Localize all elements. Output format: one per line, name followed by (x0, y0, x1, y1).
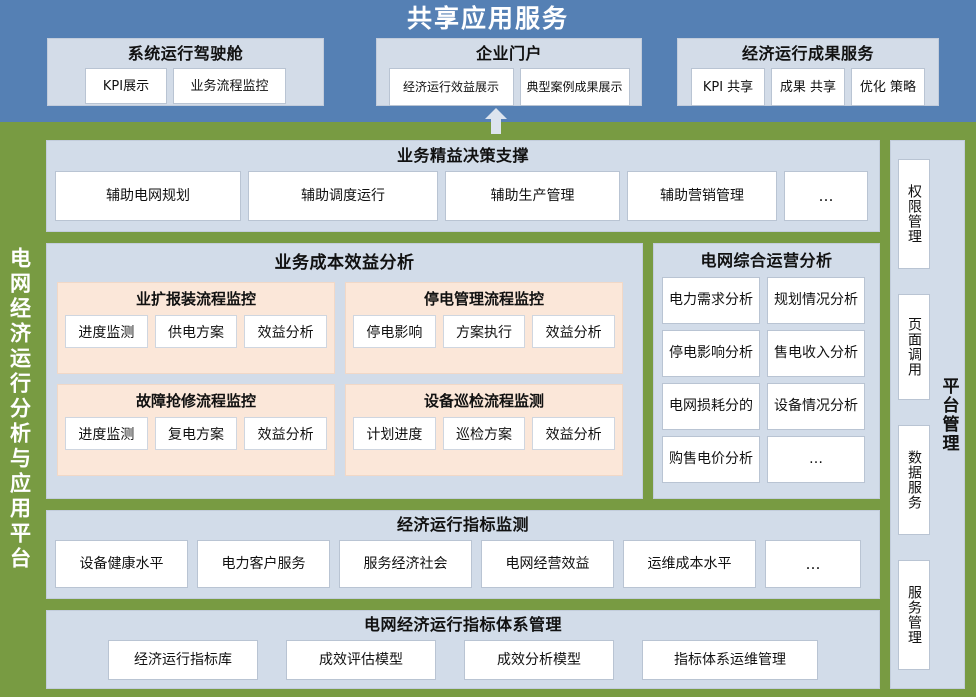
system-item-effect-evaluation-model[interactable]: 成效评估模型 (286, 640, 436, 680)
operations-item-purchase-sale-price-analysis[interactable]: 购售电价分析 (662, 436, 760, 483)
platform-management-title: 平台管理 (936, 147, 960, 682)
decision-item-more[interactable]: … (784, 171, 868, 221)
header-group-enterprise-portal[interactable]: 企业门户 经济运行效益展示 典型案例成果展示 (376, 38, 642, 106)
header-item-kpi-display[interactable]: KPI展示 (85, 68, 167, 104)
process-box-fault-repair[interactable]: 故障抢修流程监控 进度监测 复电方案 效益分析 (57, 384, 335, 476)
process-item-progress-monitor[interactable]: 进度监测 (65, 417, 148, 450)
system-item-effect-analysis-model[interactable]: 成效分析模型 (464, 640, 614, 680)
platform-item-data-service[interactable]: 数据服务 (898, 425, 930, 535)
process-item-benefit-analysis[interactable]: 效益分析 (244, 417, 327, 450)
platform-items: 权限管理 页面调用 数据服务 服务管理 (895, 147, 933, 682)
process-title: 设备巡检流程监测 (346, 390, 622, 412)
process-item-progress-monitor[interactable]: 进度监测 (65, 315, 148, 348)
header-item-business-process-monitor[interactable]: 业务流程监控 (173, 68, 286, 104)
header-group-economic-results-service[interactable]: 经济运行成果服务 KPI 共享 成果 共享 优化 策略 (677, 38, 939, 106)
platform-item-service-management[interactable]: 服务管理 (898, 560, 930, 670)
operations-item-equipment-status-analysis[interactable]: 设备情况分析 (767, 383, 865, 430)
header-group-title: 经济运行成果服务 (678, 39, 938, 65)
indicator-item-om-cost-level[interactable]: 运维成本水平 (623, 540, 756, 588)
process-items: 计划进度 巡检方案 效益分析 (346, 412, 622, 450)
panel-title: 电网综合运营分析 (654, 244, 879, 272)
process-items: 停电影响 方案执行 效益分析 (346, 310, 622, 348)
panel-cost-benefit-analysis: 业务成本效益分析 业扩报装流程监控 进度监测 供电方案 效益分析 停电管理流程监… (46, 243, 643, 499)
header-item-optimization-strategy[interactable]: 优化 策略 (851, 68, 925, 106)
platform-inner: 权限管理 页面调用 数据服务 服务管理 平台管理 (891, 141, 964, 688)
decision-item-production-management[interactable]: 辅助生产管理 (445, 171, 620, 221)
process-box-equipment-inspection[interactable]: 设备巡检流程监测 计划进度 巡检方案 效益分析 (345, 384, 623, 476)
process-item-benefit-analysis[interactable]: 效益分析 (244, 315, 327, 348)
indicator-item-social-economy-service[interactable]: 服务经济社会 (339, 540, 472, 588)
process-item-plan-progress[interactable]: 计划进度 (353, 417, 436, 450)
process-item-benefit-analysis[interactable]: 效益分析 (532, 417, 615, 450)
panel-title: 业务成本效益分析 (47, 244, 642, 274)
operations-item-grid-loss-analysis[interactable]: 电网损耗分的 (662, 383, 760, 430)
operations-item-outage-impact-analysis[interactable]: 停电影响分析 (662, 330, 760, 377)
decision-item-dispatch-operation[interactable]: 辅助调度运行 (248, 171, 438, 221)
header-group-title: 系统运行驾驶舱 (48, 39, 323, 65)
header-group-items: KPI展示 业务流程监控 (48, 65, 323, 111)
header-group-system-cockpit[interactable]: 系统运行驾驶舱 KPI展示 业务流程监控 (47, 38, 324, 106)
panel-economic-indicator-monitoring: 经济运行指标监测 设备健康水平 电力客户服务 服务经济社会 电网经营效益 运维成… (46, 510, 880, 599)
header-group-items: 经济运行效益展示 典型案例成果展示 (377, 65, 641, 113)
operations-item-more[interactable]: … (767, 436, 865, 483)
panel-grid-operations-analysis: 电网综合运营分析 电力需求分析 规划情况分析 停电影响分析 售电收入分析 电网损… (653, 243, 880, 499)
platform-item-permission-management[interactable]: 权限管理 (898, 159, 930, 269)
process-item-restoration-plan[interactable]: 复电方案 (155, 417, 238, 450)
platform-vertical-title: 电网经济运行分析与应用平台 (0, 122, 38, 697)
panel-title: 电网经济运行指标体系管理 (47, 611, 879, 636)
arrow-head (485, 108, 507, 119)
decision-item-marketing-management[interactable]: 辅助营销管理 (627, 171, 777, 221)
header-group-items: KPI 共享 成果 共享 优化 策略 (678, 65, 938, 113)
process-items: 进度监测 供电方案 效益分析 (58, 310, 334, 348)
process-title: 业扩报装流程监控 (58, 288, 334, 310)
header-item-economic-benefit-display[interactable]: 经济运行效益展示 (389, 68, 514, 106)
process-title: 故障抢修流程监控 (58, 390, 334, 412)
process-item-benefit-analysis[interactable]: 效益分析 (532, 315, 615, 348)
operations-item-electricity-revenue-analysis[interactable]: 售电收入分析 (767, 330, 865, 377)
process-item-outage-impact[interactable]: 停电影响 (353, 315, 436, 348)
indicator-item-equipment-health[interactable]: 设备健康水平 (55, 540, 188, 588)
process-item-plan-execution[interactable]: 方案执行 (443, 315, 526, 348)
operations-grid: 电力需求分析 规划情况分析 停电影响分析 售电收入分析 电网损耗分的 设备情况分… (654, 272, 879, 488)
indicator-item-customer-service[interactable]: 电力客户服务 (197, 540, 330, 588)
operations-item-power-demand-analysis[interactable]: 电力需求分析 (662, 277, 760, 324)
process-box-expansion-installation[interactable]: 业扩报装流程监控 进度监测 供电方案 效益分析 (57, 282, 335, 374)
platform-item-page-invocation[interactable]: 页面调用 (898, 294, 930, 400)
operations-item-planning-status-analysis[interactable]: 规划情况分析 (767, 277, 865, 324)
header-group-title: 企业门户 (377, 39, 641, 65)
indicator-item-more[interactable]: … (765, 540, 861, 588)
decision-items: 辅助电网规划 辅助调度运行 辅助生产管理 辅助营销管理 … (47, 167, 879, 221)
panel-platform-management: 权限管理 页面调用 数据服务 服务管理 平台管理 (890, 140, 965, 689)
process-item-inspection-plan[interactable]: 巡检方案 (443, 417, 526, 450)
process-box-outage-management[interactable]: 停电管理流程监控 停电影响 方案执行 效益分析 (345, 282, 623, 374)
header-item-kpi-share[interactable]: KPI 共享 (691, 68, 765, 106)
indicator-item-grid-operating-benefit[interactable]: 电网经营效益 (481, 540, 614, 588)
process-grid: 业扩报装流程监控 进度监测 供电方案 效益分析 停电管理流程监控 停电影响 方案… (47, 274, 642, 484)
system-item-indicator-library[interactable]: 经济运行指标库 (108, 640, 258, 680)
process-items: 进度监测 复电方案 效益分析 (58, 412, 334, 450)
indicator-system-items: 经济运行指标库 成效评估模型 成效分析模型 指标体系运维管理 (47, 636, 879, 680)
panel-title: 业务精益决策支撑 (47, 141, 879, 167)
page-title: 共享应用服务 (0, 3, 976, 35)
shared-application-service-header: 共享应用服务 系统运行驾驶舱 KPI展示 业务流程监控 企业门户 经济运行效益展… (0, 0, 976, 122)
process-title: 停电管理流程监控 (346, 288, 622, 310)
process-item-power-supply-plan[interactable]: 供电方案 (155, 315, 238, 348)
panel-decision-support: 业务精益决策支撑 辅助电网规划 辅助调度运行 辅助生产管理 辅助营销管理 … (46, 140, 880, 232)
indicator-items: 设备健康水平 电力客户服务 服务经济社会 电网经营效益 运维成本水平 … (47, 536, 879, 588)
header-item-results-share[interactable]: 成果 共享 (771, 68, 845, 106)
decision-item-grid-planning[interactable]: 辅助电网规划 (55, 171, 241, 221)
panel-indicator-system-management: 电网经济运行指标体系管理 经济运行指标库 成效评估模型 成效分析模型 指标体系运… (46, 610, 880, 689)
header-item-typical-case-results[interactable]: 典型案例成果展示 (520, 68, 630, 106)
system-item-indicator-om-management[interactable]: 指标体系运维管理 (642, 640, 818, 680)
panel-title: 经济运行指标监测 (47, 511, 879, 536)
